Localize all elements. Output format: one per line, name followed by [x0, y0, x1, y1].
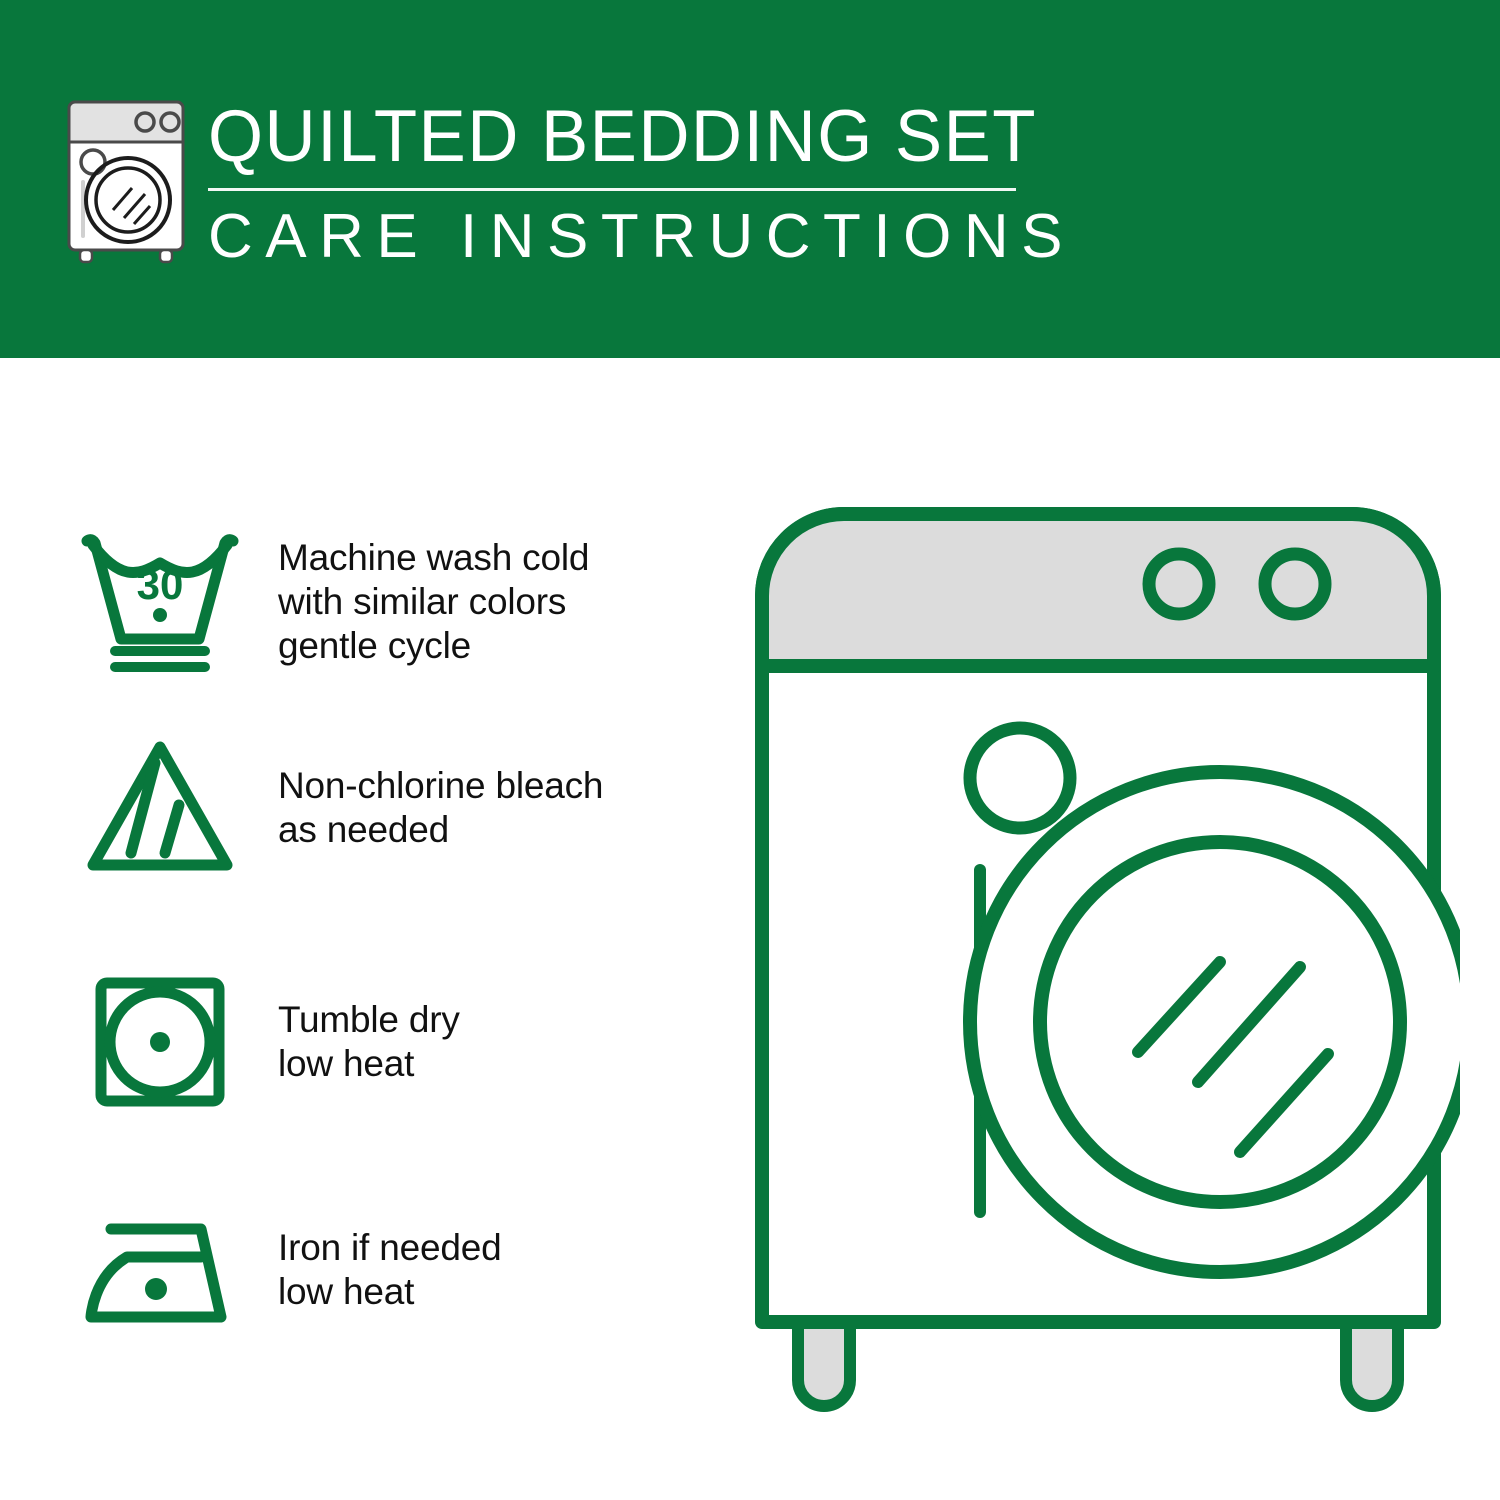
care-text-line: with similar colors: [278, 580, 589, 624]
iron-low-heat-icon: [75, 1195, 245, 1345]
care-item-bleach: Non-chlorine bleach as needed: [70, 728, 730, 888]
header-banner: QUILTED BEDDING SET CARE INSTRUCTIONS: [0, 0, 1500, 358]
control-knob-right-icon[interactable]: [1265, 554, 1325, 614]
wash-tub-30-gentle-icon: 30: [75, 527, 245, 677]
non-chlorine-bleach-triangle-icon: [75, 733, 245, 883]
care-text-line: Machine wash cold: [278, 536, 589, 580]
care-item-text: Non-chlorine bleach as needed: [278, 764, 603, 852]
care-text-line: as needed: [278, 808, 603, 852]
door-inner-ring[interactable]: [1040, 842, 1400, 1202]
care-symbol-slot: [70, 1195, 250, 1345]
care-text-line: Tumble dry: [278, 998, 460, 1042]
care-item-tumble-dry: Tumble dry low heat: [70, 962, 730, 1122]
care-text-line: Iron if needed: [278, 1226, 501, 1270]
care-text-line: low heat: [278, 1270, 501, 1314]
care-text-line: gentle cycle: [278, 624, 589, 668]
page-subtitle: CARE INSTRUCTIONS: [208, 203, 1075, 271]
care-symbol-slot: [70, 967, 250, 1117]
machine-feet: [798, 1322, 1398, 1406]
washing-machine-icon: [62, 96, 190, 264]
page-title: QUILTED BEDDING SET: [208, 98, 1049, 176]
header-titles: QUILTED BEDDING SET CARE INSTRUCTIONS: [208, 96, 1075, 271]
control-panel: [762, 514, 1434, 666]
detergent-indicator-icon: [970, 728, 1070, 828]
care-item-text: Machine wash cold with similar colors ge…: [278, 536, 589, 668]
care-symbol-slot: [70, 733, 250, 883]
care-item-machine-wash: 30 Machine wash cold with similar colors…: [70, 522, 730, 682]
care-instructions-page: QUILTED BEDDING SET CARE INSTRUCTIONS 30: [0, 0, 1500, 1500]
wash-temperature-label: 30: [137, 561, 184, 608]
front-load-washing-machine-illustration: [740, 492, 1460, 1412]
control-knob-left-icon[interactable]: [1149, 554, 1209, 614]
care-item-text: Iron if needed low heat: [278, 1226, 501, 1314]
care-symbol-slot: 30: [70, 527, 250, 677]
care-text-line: Non-chlorine bleach: [278, 764, 603, 808]
care-item-iron: Iron if needed low heat: [70, 1190, 730, 1350]
tumble-dry-low-heat-icon: [75, 967, 245, 1117]
header-content: QUILTED BEDDING SET CARE INSTRUCTIONS: [62, 96, 1075, 271]
care-item-text: Tumble dry low heat: [278, 998, 460, 1086]
title-divider: [208, 188, 1016, 191]
care-text-line: low heat: [278, 1042, 460, 1086]
